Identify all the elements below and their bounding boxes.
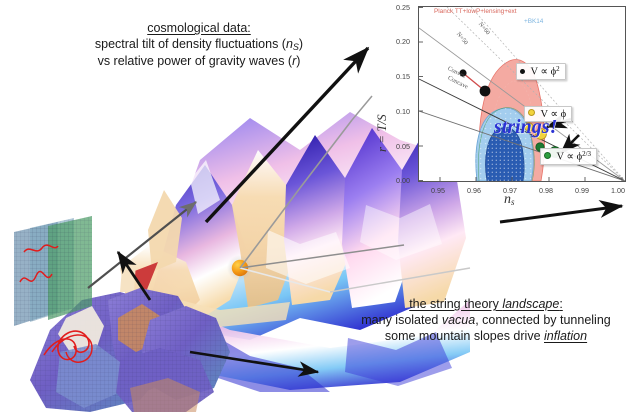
legend-phi2: V ∝ ϕ2 [516,63,566,80]
figure-canvas: r = T/S ns 0.25 0.20 0.15 0.10 0.05 0.00… [0,0,640,413]
arrow-landscape-to-plot [206,48,368,222]
datapoint-phi2-b [480,86,491,97]
y-tick-0.05: 0.05 [386,142,410,151]
y-tick-0.00: 0.00 [386,176,410,185]
source-label-bk14: +BK14 [524,18,543,25]
y-tick-0.10: 0.10 [386,107,410,116]
dbrane-sheets [14,216,92,326]
landscape-caption-line2: some mountain slopes drive inflation [336,328,636,344]
x-tick-1.00: 1.00 [605,186,631,195]
arrow-manifold-up [118,252,150,300]
x-tick-0.99: 0.99 [569,186,595,195]
red-open-string-2 [20,271,52,282]
arrow-ns-axis [500,206,622,222]
strings-annotation: strings! [494,116,557,139]
cosmological-data-caption: cosmological data: spectral tilt of dens… [44,20,354,69]
ns-r-constraint-plot: r = T/S ns 0.25 0.20 0.15 0.10 0.05 0.00… [372,2,638,208]
orange-vacuum-ball [232,260,248,276]
cosmo-caption-title: cosmological data: [44,20,354,36]
legend-dot-green [544,152,551,159]
x-tick-0.95: 0.95 [425,186,451,195]
x-tick-0.96: 0.96 [461,186,487,195]
landscape-caption-title: the string theory landscape: [336,296,636,312]
arrow-vacuum-pointer-right [240,245,404,268]
red-open-string-1 [24,245,58,252]
calabi-yau-manifold [30,288,230,412]
legend-dot-yellow [528,109,535,116]
string-landscape-caption: the string theory landscape: many isolat… [336,296,636,344]
y-tick-0.15: 0.15 [386,72,410,81]
y-tick-0.20: 0.20 [386,37,410,46]
x-tick-0.98: 0.98 [533,186,559,195]
cosmo-caption-line2: vs relative power of gravity waves (r) [44,53,354,69]
source-label-planck: Planck TT+lowP+lensing+ext [434,8,516,15]
legend-phi23: V ∝ ϕ2/3 [540,148,597,165]
red-string-loop [44,331,89,359]
landscape-caption-line1: many isolated vacua, connected by tunnel… [336,312,636,328]
arrow-branes-to-landscape [88,202,196,288]
vacuum-ball-halo [227,255,253,281]
arrow-manifold-to-landscape [190,352,318,372]
cosmo-caption-line1: spectral tilt of density fluctuations (n… [44,36,354,53]
x-tick-0.97: 0.97 [497,186,523,195]
legend-dot-black [520,69,525,74]
y-tick-0.25: 0.25 [386,3,410,12]
